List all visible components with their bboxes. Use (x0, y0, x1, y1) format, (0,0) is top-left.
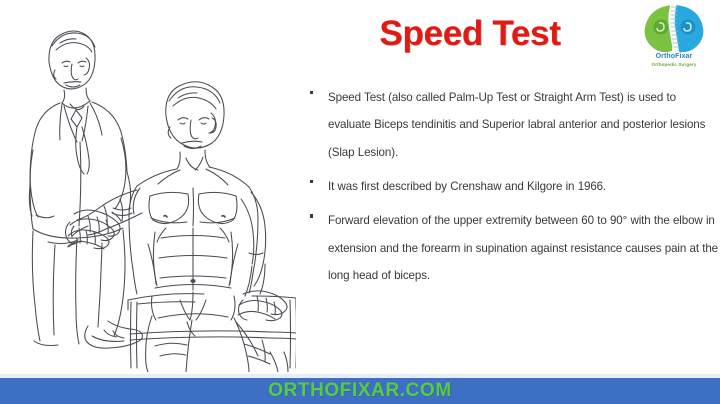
content-panel: Speed Test (296, 0, 720, 372)
square-bullet-icon (310, 180, 313, 183)
list-item: Forward elevation of the upper extremity… (302, 207, 718, 289)
page-title: Speed Test (302, 14, 638, 54)
list-item: It was first described by Crenshaw and K… (302, 173, 718, 200)
orthofixar-spine-leaf-logo (641, 2, 707, 52)
bullet-text: Forward elevation of the upper extremity… (328, 214, 718, 282)
brand-tagline: Orthopedic Surgery (636, 62, 712, 67)
bullet-list: Speed Test (also called Palm-Up Test or … (302, 84, 718, 297)
bullet-text: It was first described by Crenshaw and K… (328, 180, 606, 193)
banner-website-text: ORTHOFIXAR.COM (268, 380, 452, 402)
bottom-banner: ORTHOFIXAR.COM (0, 378, 720, 404)
list-item: Speed Test (also called Palm-Up Test or … (302, 84, 718, 166)
speed-test-examination-line-drawing (0, 0, 296, 372)
illustration-panel (0, 0, 296, 372)
slide-canvas: Speed Test (0, 0, 720, 404)
brand-name: OrthoFixar (636, 53, 712, 61)
brand-logo: OrthoFixar Orthopedic Surgery (636, 2, 712, 74)
bullet-text: Speed Test (also called Palm-Up Test or … (328, 91, 705, 159)
square-bullet-icon (310, 214, 313, 217)
square-bullet-icon (310, 91, 313, 94)
